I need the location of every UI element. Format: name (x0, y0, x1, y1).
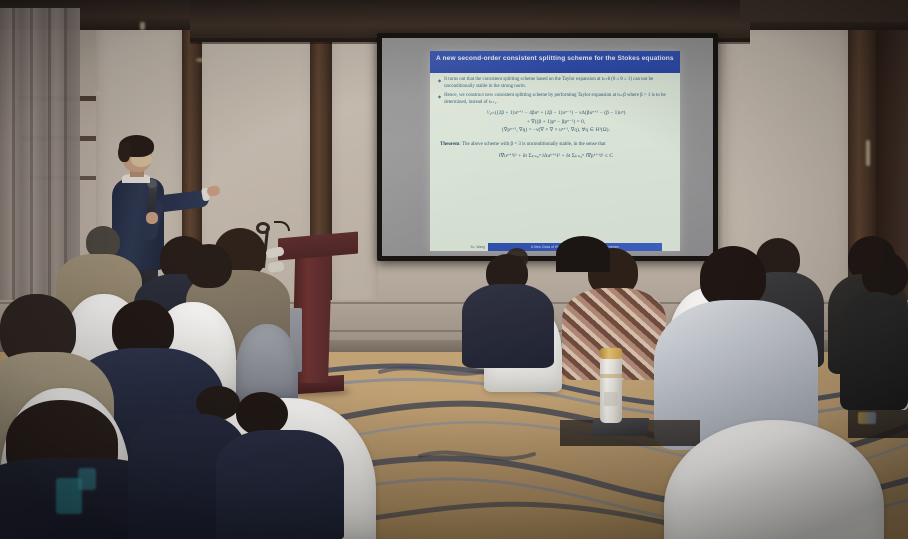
snack-packet (858, 412, 876, 424)
ceiling-light-icon (140, 22, 145, 30)
slide-bullet-text: Hence, we construct new consistent split… (444, 93, 674, 106)
slide-theorem: Theorem: The above scheme with β = 3 is … (438, 142, 674, 149)
wall-light-icon (196, 58, 205, 62)
bullet-dot-icon: ◆ (438, 77, 441, 90)
theorem-label: Theorem (440, 142, 459, 147)
slide-equation: (∇pⁿ⁺¹, ∇q) = −ν(∇ × ∇ × uⁿ⁺¹, ∇q), ∀q ∈… (438, 127, 674, 135)
ceiling-edge-right (740, 0, 908, 22)
slide-bullet: ◆ Hence, we construct new consistent spl… (438, 93, 674, 106)
wall-sconce-icon (866, 140, 870, 166)
slide-footer: Xu, Wang A New Class of Higher-order Con… (430, 242, 680, 251)
jacket-logo-patch-2 (78, 468, 96, 490)
audience-chair (236, 324, 298, 402)
slide-equation: + ∇((β + 1)pⁿ − βpⁿ⁻¹) = 0, (438, 119, 674, 127)
microphone-head-icon (256, 222, 270, 234)
thermos-cap (600, 348, 622, 359)
thermos-bottle (600, 355, 622, 423)
theorem-text: The above scheme with β = 3 is unconditi… (462, 142, 606, 147)
slide-title: A new second-order consistent splitting … (430, 51, 680, 73)
bullet-dot-icon: ◆ (438, 93, 441, 106)
slide-bullet-text: It turns out that the consistent splitti… (444, 77, 674, 90)
conference-room-photo: A new second-order consistent splitting … (0, 0, 908, 539)
projection-screen: A new second-order consistent splitting … (377, 33, 718, 261)
theorem-equation: ‖∇uⁿ⁺¹‖² + δt Σₖ₌₀ⁿ ‖Δuᵏ⁺¹‖² + δt Σₖ₌₀ⁿ … (438, 153, 674, 161)
presentation-slide: A new second-order consistent splitting … (430, 51, 680, 251)
slide-footer-author: Xu, Wang (430, 245, 488, 249)
wall-light-icon-2 (95, 92, 101, 95)
slide-bullet: ◆ It turns out that the consistent split… (438, 77, 674, 90)
slide-equation: ¹⁄₂ₖₜ((2β + 1)uⁿ⁺¹ − 4βuⁿ + (2β − 1)uⁿ⁻¹… (438, 110, 674, 118)
